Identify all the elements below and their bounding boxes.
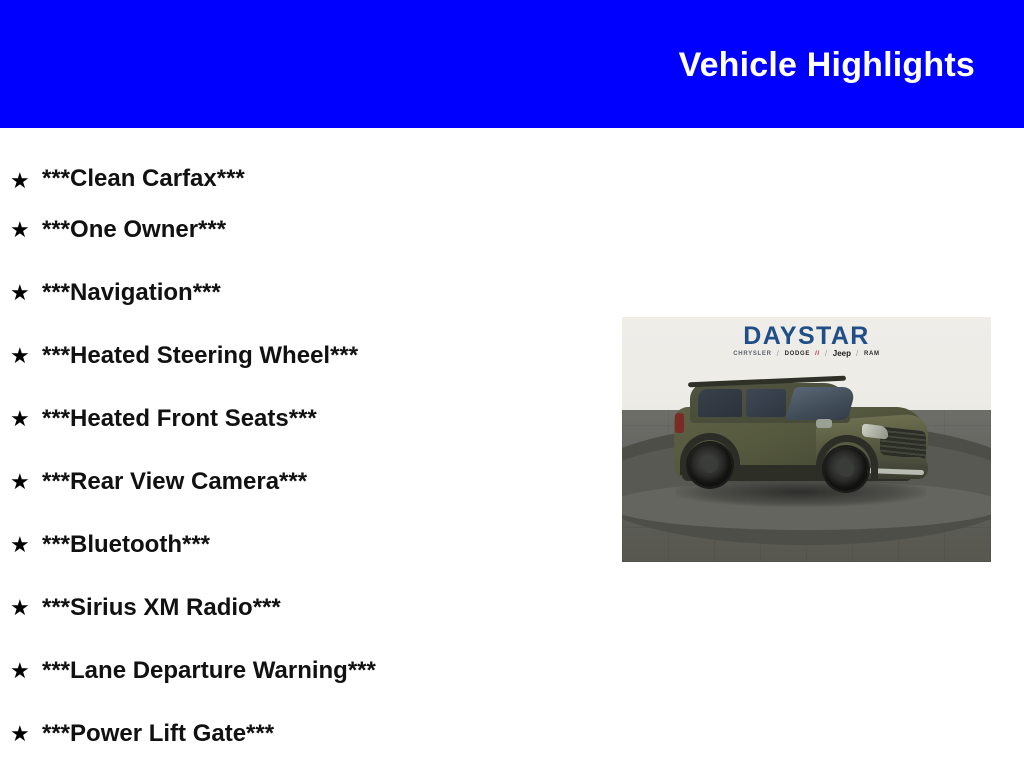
star-icon: ★: [10, 534, 42, 556]
list-item: ★ ***Bluetooth***: [0, 513, 620, 576]
star-icon: ★: [10, 282, 42, 304]
star-icon: ★: [10, 660, 42, 682]
list-item: ★ ***Rear View Camera***: [0, 450, 620, 513]
highlight-label: ***Navigation***: [42, 280, 221, 306]
page-title: Vehicle Highlights: [679, 45, 975, 85]
vehicle-rear-wheel: [688, 443, 732, 487]
highlight-label: ***Heated Front Seats***: [42, 406, 317, 432]
list-item: ★ ***Navigation***: [0, 261, 620, 324]
highlight-label: ***Sirius XM Radio***: [42, 595, 281, 621]
star-icon: ★: [10, 723, 42, 745]
vehicle-rear-window: [698, 389, 742, 417]
highlight-label: ***Rear View Camera***: [42, 469, 307, 495]
star-icon: ★: [10, 170, 42, 192]
vehicle-front-wheel: [824, 447, 868, 491]
list-item: ★ ***Heated Steering Wheel***: [0, 324, 620, 387]
highlight-label: ***Power Lift Gate***: [42, 721, 274, 747]
highlight-label: ***Bluetooth***: [42, 532, 210, 558]
list-item: ★ ***Sirius XM Radio***: [0, 576, 620, 639]
vehicle-highlights-list: ★ ***Clean Carfax*** ★ ***One Owner*** ★…: [0, 128, 620, 765]
list-item: ★ ***Heated Front Seats***: [0, 387, 620, 450]
list-item: ★ ***Power Lift Gate***: [0, 702, 620, 765]
wheel-hub: [838, 461, 854, 477]
header-banner: Vehicle Highlights: [0, 0, 1024, 128]
list-item: ★ ***Clean Carfax***: [0, 128, 620, 198]
star-icon: ★: [10, 597, 42, 619]
vehicle-windshield: [785, 387, 856, 420]
star-icon: ★: [10, 345, 42, 367]
highlight-label: ***Clean Carfax***: [42, 166, 245, 192]
list-item: ★ ***One Owner***: [0, 198, 620, 261]
vehicle-illustration: [666, 373, 936, 513]
vehicle-photo: DAYSTAR CHRYSLER / DODGE // / Jeep / RAM: [622, 317, 991, 562]
list-item: ★ ***Lane Departure Warning***: [0, 639, 620, 702]
star-icon: ★: [10, 408, 42, 430]
wheel-hub: [702, 457, 718, 473]
vehicle-side-mirror: [816, 419, 832, 428]
star-icon: ★: [10, 471, 42, 493]
star-icon: ★: [10, 219, 42, 241]
highlight-label: ***Lane Departure Warning***: [42, 658, 376, 684]
vehicle-taillight: [675, 413, 684, 433]
vehicle-side-window: [746, 389, 786, 417]
highlight-label: ***Heated Steering Wheel***: [42, 343, 358, 369]
highlight-label: ***One Owner***: [42, 217, 226, 243]
